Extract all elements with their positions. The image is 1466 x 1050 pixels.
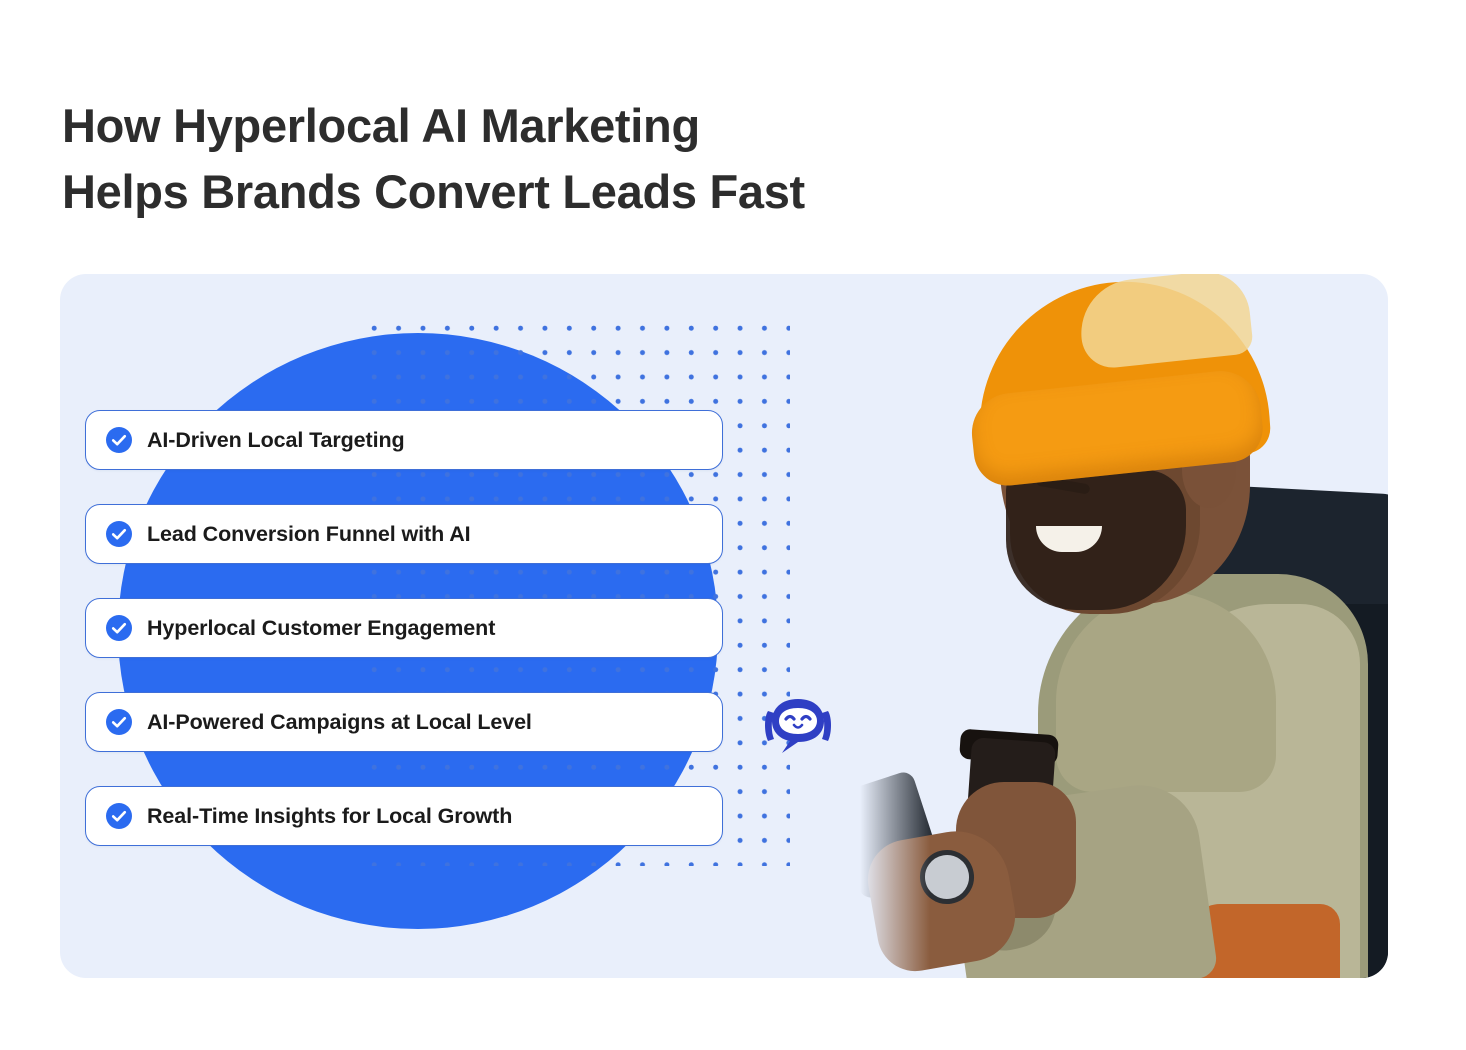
feature-list: AI-Driven Local Targeting Lead Conversio…	[85, 410, 723, 846]
feature-card-3[interactable]: Hyperlocal Customer Engagement	[85, 598, 723, 658]
feature-card-label: Hyperlocal Customer Engagement	[147, 616, 495, 641]
feature-card-label: AI-Powered Campaigns at Local Level	[147, 710, 532, 735]
feature-card-label: AI-Driven Local Targeting	[147, 428, 405, 453]
check-circle-icon	[106, 615, 132, 641]
feature-card-label: Real-Time Insights for Local Growth	[147, 804, 512, 829]
check-circle-icon	[106, 709, 132, 735]
page-title: How Hyperlocal AI Marketing Helps Brands…	[62, 93, 1062, 225]
feature-card-5[interactable]: Real-Time Insights for Local Growth	[85, 786, 723, 846]
feature-card-2[interactable]: Lead Conversion Funnel with AI	[85, 504, 723, 564]
feature-card-4[interactable]: AI-Powered Campaigns at Local Level	[85, 692, 723, 752]
feature-card-label: Lead Conversion Funnel with AI	[147, 522, 471, 547]
photo-edge-fade	[860, 274, 930, 978]
check-circle-icon	[106, 521, 132, 547]
check-circle-icon	[106, 427, 132, 453]
check-circle-icon	[106, 803, 132, 829]
hero-photo	[860, 274, 1388, 978]
chatbot-icon	[760, 695, 836, 761]
hero-panel: AI-Driven Local Targeting Lead Conversio…	[60, 274, 1388, 978]
feature-card-1[interactable]: AI-Driven Local Targeting	[85, 410, 723, 470]
